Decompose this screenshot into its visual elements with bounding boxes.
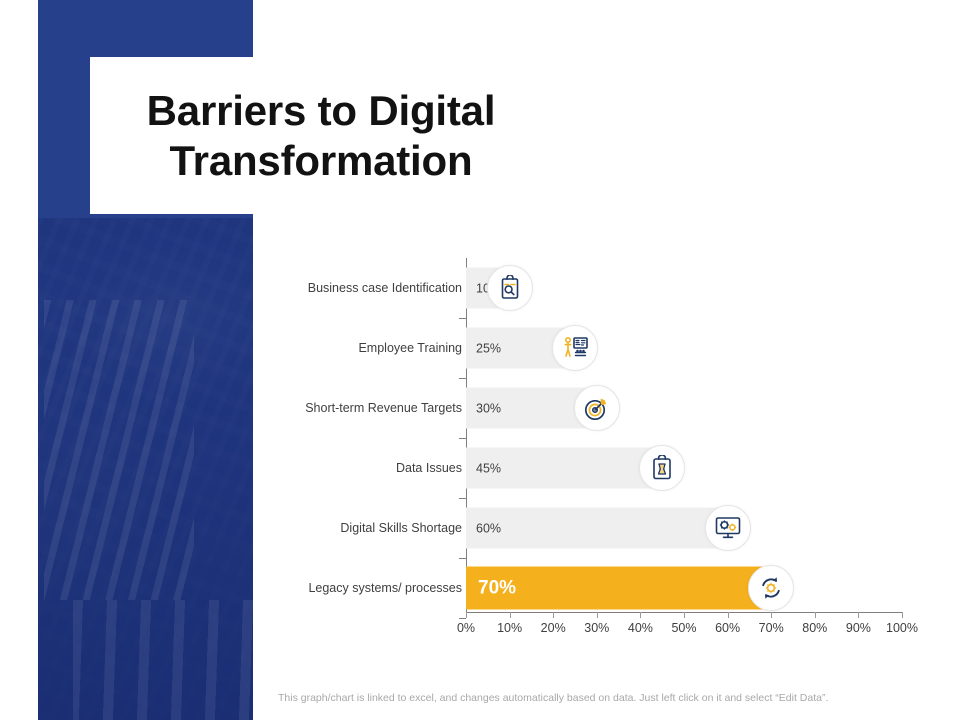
x-axis-tick (858, 612, 859, 618)
x-axis-label: 0% (457, 621, 475, 635)
x-axis-label: 10% (497, 621, 522, 635)
chart-row: Short-term Revenue Targets30% (265, 378, 935, 438)
bar[interactable]: 70% (466, 567, 771, 610)
x-axis-label: 100% (886, 621, 918, 635)
x-axis-tick (597, 612, 598, 618)
chart-row: Legacy systems/ processes70% (265, 558, 935, 618)
bar[interactable]: 60% (466, 508, 728, 549)
bar-value-label: 30% (466, 401, 501, 415)
presenter-training-icon (552, 325, 598, 371)
x-axis-label: 40% (628, 621, 653, 635)
chart-row: Data Issues45% (265, 438, 935, 498)
title-card: Barriers to Digital Transformation (90, 57, 538, 214)
bar-value-label: 25% (466, 341, 501, 355)
x-axis-tick (815, 612, 816, 618)
category-label: Digital Skills Shortage (340, 521, 462, 535)
page-title: Barriers to Digital Transformation (90, 86, 538, 185)
bar-value-label: 70% (466, 577, 516, 599)
x-axis-tick (684, 612, 685, 618)
chart-row: Business case Identification10% (265, 258, 935, 318)
photo-keyboard-texture-lower (73, 600, 253, 720)
footer-note: This graph/chart is linked to excel, and… (278, 692, 928, 704)
monitor-gears-icon (705, 505, 751, 551)
bar-value-label: 60% (466, 521, 501, 535)
x-axis-label: 30% (584, 621, 609, 635)
x-axis-tick (771, 612, 772, 618)
category-label: Short-term Revenue Targets (305, 401, 462, 415)
x-axis-label: 80% (802, 621, 827, 635)
x-axis-tick (728, 612, 729, 618)
x-axis-label: 50% (671, 621, 696, 635)
chart-row: Employee Training25% (265, 318, 935, 378)
bar-chart[interactable]: Business case Identification10%Employee … (265, 258, 935, 658)
x-axis-label: 20% (541, 621, 566, 635)
x-axis-tick (553, 612, 554, 618)
x-axis-label: 70% (759, 621, 784, 635)
bar-value-label: 45% (466, 461, 501, 475)
x-axis-tick (902, 612, 903, 618)
x-axis-tick (640, 612, 641, 618)
category-label: Legacy systems/ processes (308, 581, 462, 595)
y-axis-tick (459, 618, 466, 619)
x-axis-label: 90% (846, 621, 871, 635)
category-label: Employee Training (358, 341, 462, 355)
target-dartboard-icon (574, 385, 620, 431)
plot-area: Business case Identification10%Employee … (265, 258, 935, 618)
photo-keyboard-texture (44, 300, 194, 600)
clipboard-icon (639, 445, 685, 491)
x-axis-tick (466, 612, 467, 618)
category-label: Data Issues (396, 461, 462, 475)
refresh-gear-icon (748, 565, 794, 611)
category-label: Business case Identification (308, 281, 462, 295)
clipboard-search-icon (487, 265, 533, 311)
bar[interactable]: 45% (466, 448, 662, 489)
x-axis-tick (510, 612, 511, 618)
chart-row: Digital Skills Shortage60% (265, 498, 935, 558)
x-axis-label: 60% (715, 621, 740, 635)
